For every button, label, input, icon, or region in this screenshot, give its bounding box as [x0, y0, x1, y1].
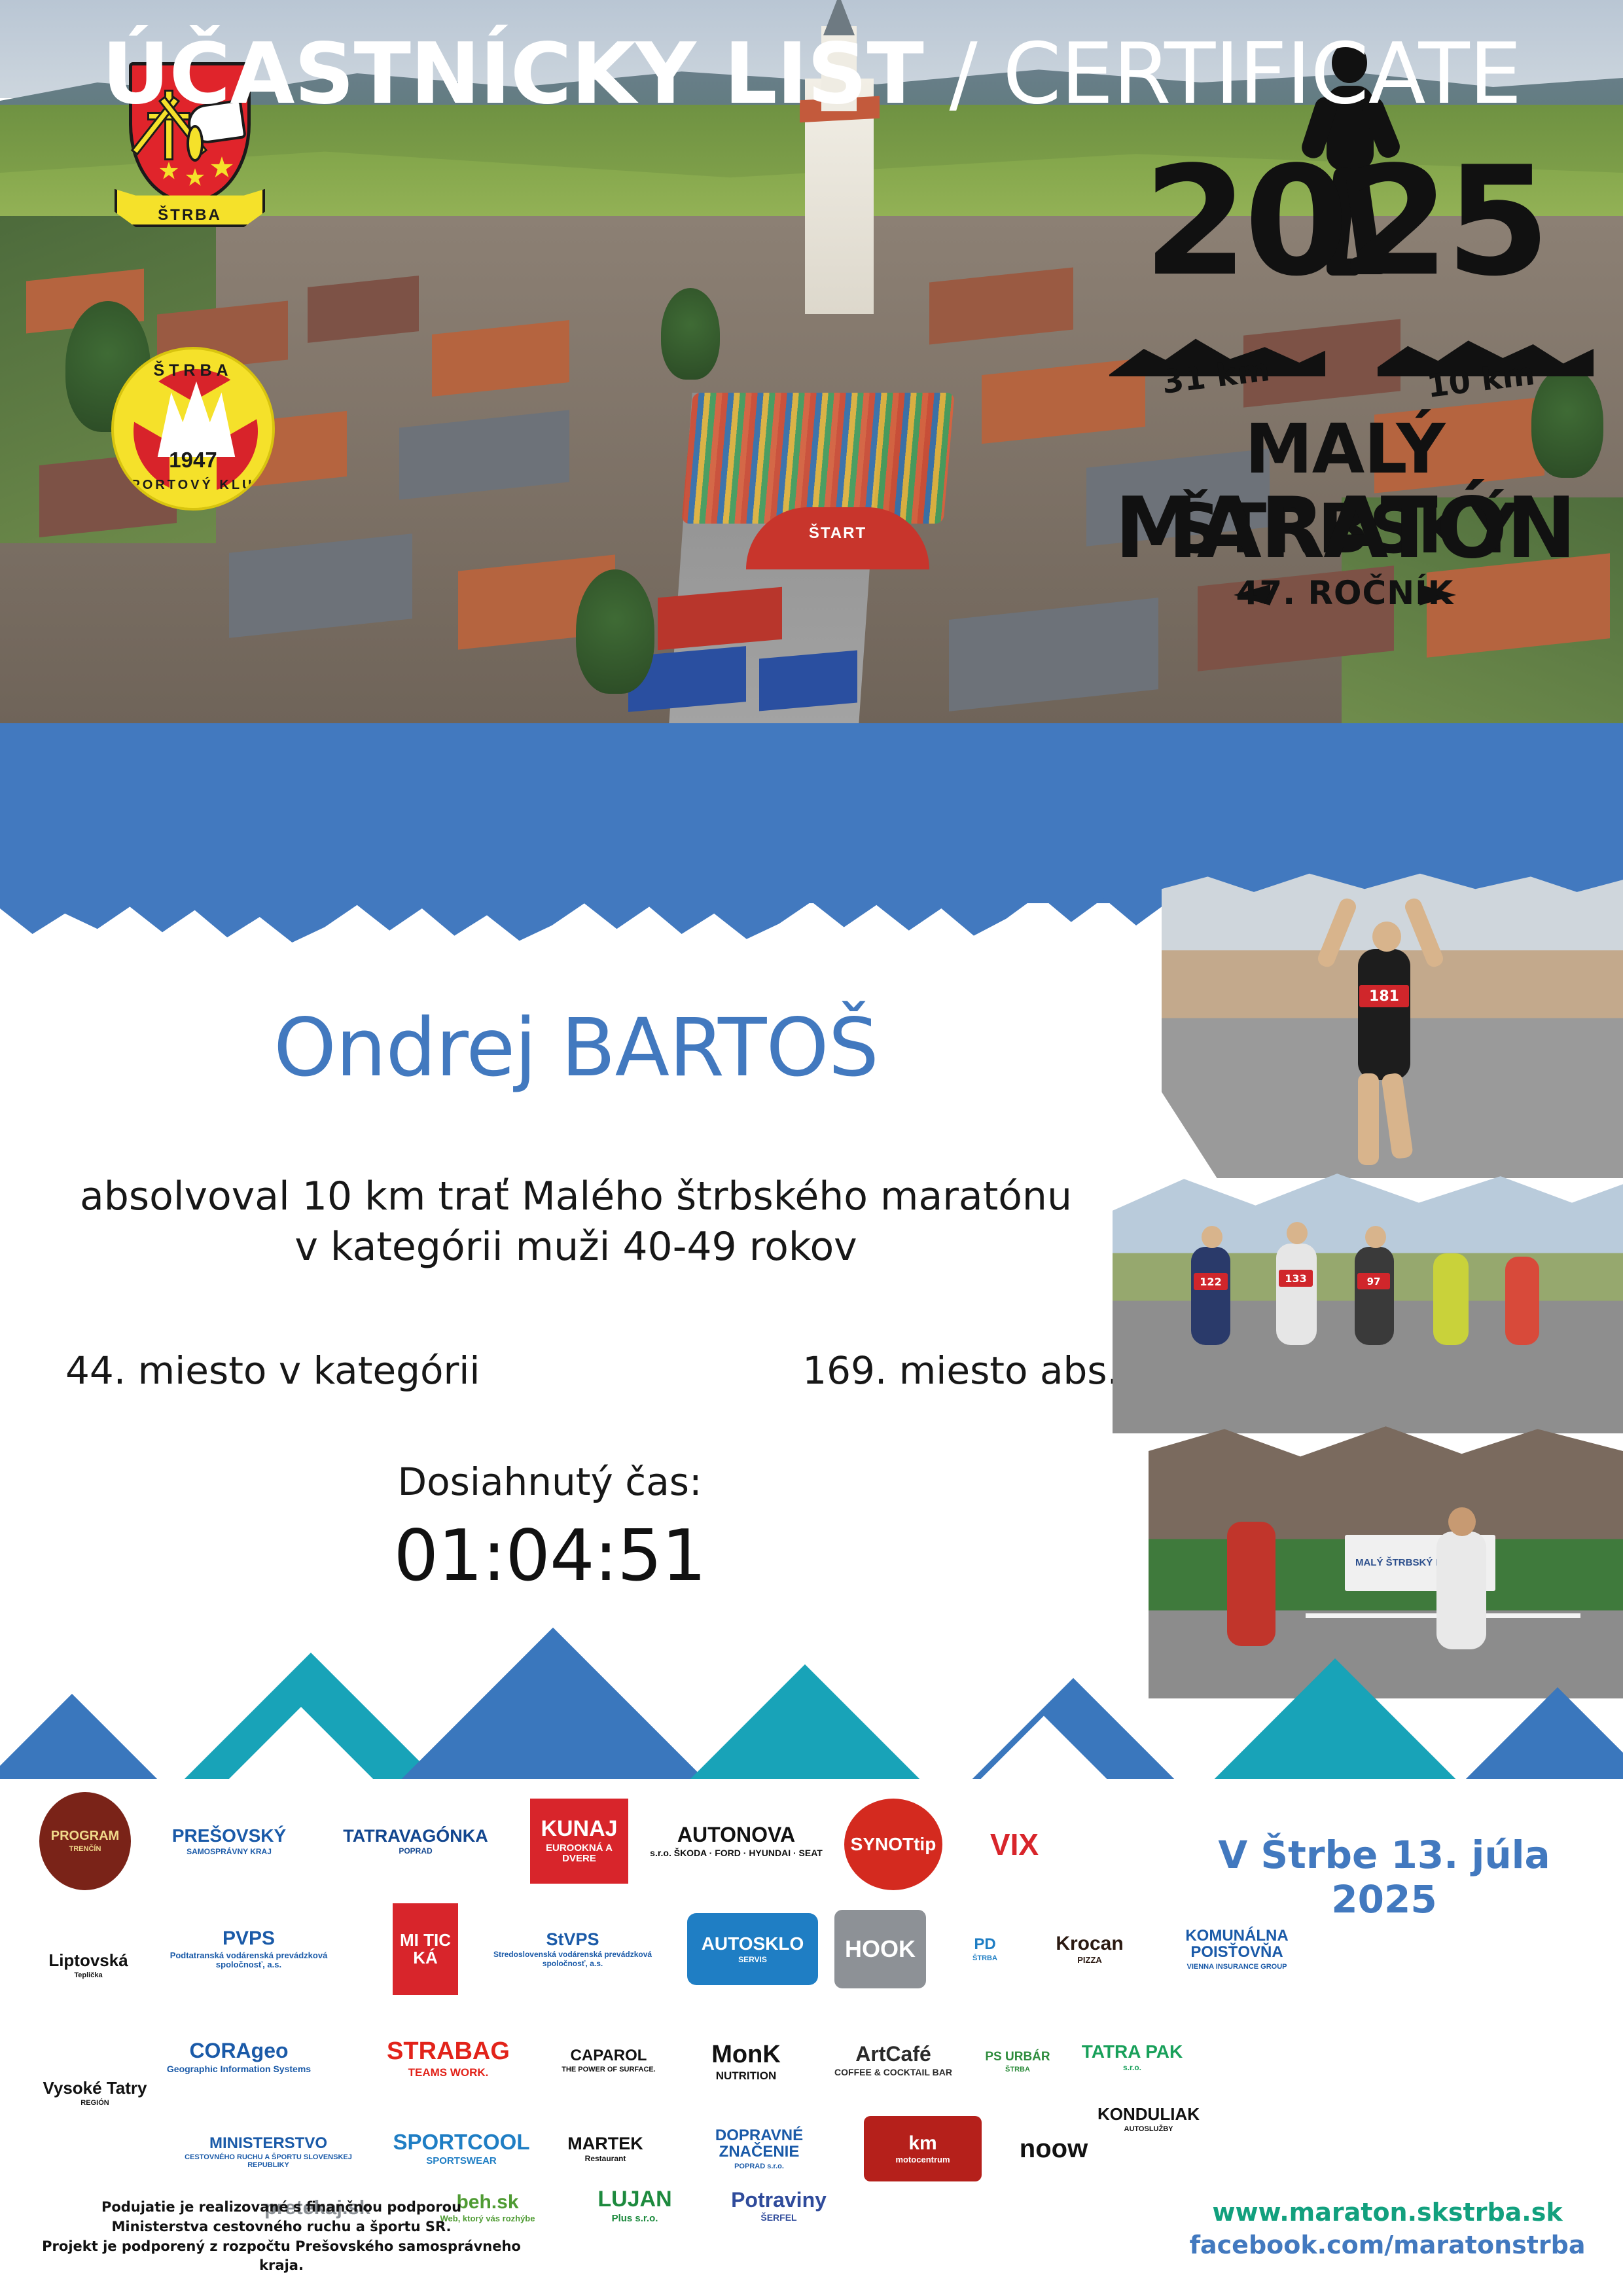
sponsor-name: LUJAN — [597, 2188, 671, 2212]
sponsor-logo-lujan-plus: LUJANPlus s.r.o. — [576, 2175, 694, 2237]
sponsor-name: STRABAG — [387, 2039, 510, 2065]
sponsor-tagline: motocentrum — [895, 2155, 950, 2164]
crest-label: ŠTRBA — [117, 206, 262, 224]
sponsor-logo-ps-urbar-strba: PS URBÁRŠTRBA — [975, 2021, 1060, 2103]
date-and-place: V Štrbe 13. júla 2025 — [1171, 1833, 1597, 1922]
sponsor-logo-dopravne-znacenie: DOPRAVNÉ ZNAČENIEPOPRAD s.r.o. — [674, 2119, 844, 2178]
sponsor-tagline: AUTOSLUŽBY — [1124, 2125, 1173, 2133]
sponsor-tagline: Geographic Information Systems — [167, 2064, 311, 2074]
runner-body — [1358, 949, 1410, 1080]
sponsor-logo-hook: HOOK — [834, 1910, 926, 1988]
sponsor-name: km — [908, 2133, 936, 2154]
sponsor-logo-km-motocentrum: kmmotocentrum — [864, 2116, 982, 2181]
sponsor-name: MI TIC KÁ — [393, 1931, 458, 1967]
photo-collage: 181 122 133 97 MALÝ ŠTRBSKÝ MARATÓN — [1113, 870, 1623, 1715]
sponsor-tagline: POPRAD s.r.o. — [734, 2162, 784, 2170]
runner-body — [1436, 1532, 1486, 1649]
sponsor-name: HOOK — [845, 1937, 916, 1962]
runner-head — [1287, 1222, 1308, 1244]
photo-finish-line: MALÝ ŠTRBSKÝ MARATÓN — [1149, 1424, 1623, 1698]
sponsor-tagline: SAMOSPRÁVNY KRAJ — [187, 1848, 272, 1856]
disclaimer-line-3: Projekt je podporený z rozpočtu Prešovsk… — [39, 2237, 524, 2276]
runner-body — [1276, 1244, 1317, 1345]
sponsor-name: KOMUNÁLNA POISŤOVŇA — [1152, 1928, 1322, 1960]
category-placement: 44. miesto v kategórii — [65, 1348, 480, 1393]
finish-time: 01:04:51 — [39, 1515, 1060, 1597]
sponsor-tagline: Restaurant — [585, 2155, 626, 2163]
sponsor-logo-autosklo-servis: AUTOSKLOSERVIS — [687, 1913, 818, 1985]
photo-female-finisher: 181 — [1162, 870, 1623, 1178]
sponsor-tagline: CESTOVNÉHO RUCHU A ŠPORTU SLOVENSKEJ REP… — [164, 2153, 373, 2169]
sponsor-tagline: TRENČÍN — [69, 1845, 101, 1853]
rooftop — [308, 276, 419, 343]
sponsor-logo-artcafe: ArtCaféCOFFEE & COCKTAIL BAR — [831, 2021, 955, 2100]
sponsor-logo-krocan-pizza: KrocanPIZZA — [1041, 1907, 1139, 1992]
runner-leg — [1358, 1073, 1379, 1165]
sponsor-logo-stvps: StVPSStredoslovenská vodárenská prevádzk… — [478, 1910, 668, 1988]
sponsor-name: Potraviny — [731, 2189, 827, 2212]
sponsor-name: DOPRAVNÉ ZNAČENIE — [674, 2127, 844, 2160]
tree — [661, 288, 720, 380]
certificate-page: ŠTRBA ŠTRBA 1947 ŠPORTOVÝ KLUB — [0, 0, 1623, 2296]
absolute-placement: 169. miesto abs. — [802, 1348, 1119, 1393]
title-slovak: ÚČASTNÍCKY LIST — [102, 26, 923, 123]
website-url[interactable]: www.maraton.skstrba.sk — [1165, 2198, 1610, 2227]
sponsor-name: MINISTERSTVO — [209, 2135, 327, 2151]
sponsor-name: Liptovská — [48, 1952, 128, 1969]
sponsor-name: TATRAVAGÓNKA — [343, 1827, 488, 1845]
tree — [576, 569, 654, 694]
sponsor-tagline: Teplička — [74, 1971, 102, 1979]
disclaimer-line-2: Ministerstva cestovného ruchu a športu S… — [39, 2217, 524, 2237]
sponsor-logo-monk-nutrition: MonKNUTRITION — [681, 2028, 811, 2096]
sponsor-tagline: Plus s.r.o. — [612, 2214, 658, 2225]
certificate-description: absolvoval 10 km trať Malého štrbského m… — [39, 1172, 1113, 1272]
sponsor-tagline: s.r.o. ŠKODA · FORD · HYUNDAI · SEAT — [650, 1848, 823, 1858]
sponsor-name: ArtCafé — [855, 2043, 931, 2066]
time-label: Dosiahnutý čas: — [39, 1460, 1060, 1504]
sponsor-tagline: s.r.o. — [1123, 2064, 1141, 2072]
runner-arm — [1315, 896, 1358, 969]
sponsor-name: MonK — [711, 2042, 781, 2068]
sponsor-name: Vysoké Tatry — [43, 2079, 147, 2097]
bib-number: 181 — [1359, 985, 1409, 1007]
sponsor-logo-synot-tip: SYNOTtip — [844, 1799, 942, 1890]
sponsor-logo-komunalna-poistovna: KOMUNÁLNA POISŤOVŇAVIENNA INSURANCE GROU… — [1152, 1913, 1322, 1985]
sponsor-tagline: Stredoslovenská vodárenská prevádzková s… — [478, 1950, 668, 1967]
sponsor-name: PS URBÁR — [985, 2051, 1050, 2064]
sponsor-name: SPORTCOOL — [393, 2131, 529, 2154]
sponsor-name: AUTONOVA — [677, 1824, 795, 1846]
sponsor-name: AUTOSKLO — [702, 1934, 804, 1953]
sponsor-tagline: PIZZA — [1077, 1956, 1102, 1965]
placement-row: 44. miesto v kategórii 169. miesto abs. — [65, 1348, 1119, 1393]
title-english: CERTIFICATE — [1003, 26, 1521, 123]
sponsor-tagline: NUTRITION — [716, 2070, 777, 2083]
runner-leg — [1381, 1072, 1414, 1159]
facebook-url[interactable]: facebook.com/maratonstrba — [1165, 2231, 1610, 2259]
runner-body — [1355, 1247, 1394, 1345]
sponsor-name: MARTEK — [567, 2134, 643, 2153]
sportovy-klub-strba-emblem: ŠTRBA 1947 ŠPORTOVÝ KLUB — [111, 347, 275, 511]
sponsor-logo-pvps: PVPSPodtatranská vodárenská prevádzková … — [151, 1910, 347, 1988]
sponsor-tagline: SERVIS — [738, 1956, 767, 1964]
sponsor-tagline: ŠTRBA — [972, 1954, 997, 1962]
sponsor-name: TATRA PAK — [1082, 2042, 1183, 2061]
runner-pack — [681, 393, 954, 524]
sponsor-name: PREŠOVSKÝ — [172, 1826, 286, 1845]
sponsor-logo-tatravagonka-poprad: TATRAVAGÓNKAPOPRAD — [327, 1805, 504, 1877]
sponsor-tagline: EUROOKNÁ A DVERE — [530, 1843, 628, 1865]
sponsor-tagline: VIENNA INSURANCE GROUP — [1187, 1963, 1287, 1971]
sponsor-logo-pd-strba: PDŠTRBA — [942, 1907, 1027, 1992]
participant-name: Ondrej BARTOŠ — [39, 1001, 1113, 1094]
sponsor-tagline: SPORTSWEAR — [426, 2156, 497, 2167]
sponsor-tagline: POPRAD — [399, 1847, 432, 1856]
sponsor-tagline: Podtatranská vodárenská prevádzková spol… — [151, 1951, 347, 1970]
distance-marks: 31 km 10 km — [1096, 317, 1594, 396]
runner-body — [1191, 1247, 1230, 1345]
spectator-folk-costume — [1227, 1522, 1275, 1646]
sponsor-tagline: REGIÓN — [80, 2099, 109, 2107]
sponsor-tagline: ŠERFEL — [760, 2213, 796, 2223]
runner-head — [1202, 1226, 1222, 1248]
sponsor-logo-program-trencin: PROGRAMTRENČÍN — [39, 1792, 131, 1890]
sponsor-logo-martek-restaurant: MARTEKRestaurant — [550, 2113, 661, 2185]
tent-blue — [759, 650, 857, 711]
sponsor-logo-potraviny-serfel: PotravinyŠERFEL — [713, 2175, 844, 2237]
sponsor-name: Krocan — [1056, 1933, 1123, 1954]
event-title-line2: MARATÓN — [1077, 480, 1613, 577]
sponsor-name: noow — [1020, 2135, 1088, 2162]
bib-number: 133 — [1279, 1270, 1313, 1287]
sponsor-logo-vix: VIX — [962, 1799, 1067, 1890]
sponsor-name: CAPAROL — [571, 2047, 647, 2064]
sponsor-logo-tatrapak: TATRA PAKs.r.o. — [1073, 2024, 1191, 2090]
sponsor-logo-kunaj: KUNAJEUROOKNÁ A DVERE — [530, 1799, 628, 1884]
sponsor-tagline: ŠTRBA — [1005, 2066, 1030, 2073]
sponsor-name: PVPS — [223, 1928, 275, 1949]
tent-red — [658, 587, 782, 651]
sponsor-tagline: TEAMS WORK. — [408, 2067, 489, 2079]
emblem-year: 1947 — [114, 448, 272, 473]
sponsor-logo-caparol: CAPAROLTHE POWER OF SURFACE. — [550, 2021, 668, 2100]
sponsor-name: KONDULIAK — [1097, 2106, 1200, 2123]
sponsor-tagline: COFFEE & COCKTAIL BAR — [834, 2068, 952, 2077]
funding-disclaimer: Podujatie je realizované s finančnou pod… — [39, 2198, 524, 2276]
description-line-2: v kategórii muži 40-49 rokov — [39, 1222, 1113, 1272]
sponsor-logo-presovsky-kraj: PREŠOVSKÝSAMOSPRÁVNY KRAJ — [144, 1805, 314, 1877]
description-line-1: absolvoval 10 km trať Malého štrbského m… — [39, 1172, 1113, 1222]
photo-runner-group: 122 133 97 — [1113, 1168, 1623, 1433]
emblem-top-text: ŠTRBA — [114, 361, 272, 380]
event-edition: 47. ROČNÍK — [1077, 574, 1613, 612]
sponsor-logo-ministerstvo-sr: MINISTERSTVOCESTOVNÉHO RUCHU A ŠPORTU SL… — [164, 2113, 373, 2191]
title-separator: / — [923, 26, 1003, 123]
sponsor-logo-autonova: AUTONOVAs.r.o. ŠKODA · FORD · HYUNDAI · … — [645, 1799, 828, 1884]
bib-number: 122 — [1194, 1273, 1228, 1290]
sponsor-logo-noow: noow — [1001, 2119, 1106, 2178]
sponsor-logo-miticka: MI TIC KÁ — [393, 1903, 458, 1995]
sponsor-logo-strabag: STRABAGTEAMS WORK. — [373, 2024, 524, 2093]
sponsor-logo-liptovska-teplicka: LiptovskáTeplička — [39, 1907, 137, 2024]
sponsor-name: PROGRAM — [51, 1829, 119, 1843]
sponsor-logo-corageo: CORAgeoGeographic Information Systems — [151, 2021, 327, 2093]
certificate-title: ÚČASTNÍCKY LIST / CERTIFICATE — [0, 33, 1623, 117]
emblem-bottom-text: ŠPORTOVÝ KLUB — [114, 478, 272, 493]
runner-head — [1372, 922, 1401, 952]
sponsor-name: VIX — [990, 1829, 1039, 1860]
event-year: 2025 — [1077, 147, 1613, 298]
bib-number: 97 — [1357, 1273, 1390, 1289]
sponsor-name: SYNOTtip — [851, 1835, 936, 1854]
sponsor-name: StVPS — [546, 1930, 599, 1948]
sponsor-logo-vysoke-tatry: Vysoké TatryREGIÓN — [39, 2041, 151, 2145]
sponsor-logo-sportcool: SPORTCOOLSPORTSWEAR — [386, 2113, 537, 2185]
sponsor-name: CORAgeo — [189, 2040, 288, 2062]
runner-head — [1365, 1226, 1386, 1248]
sponsor-name: KUNAJ — [541, 1818, 617, 1841]
sponsor-name: PD — [974, 1936, 995, 1952]
sponsor-tagline: THE POWER OF SURFACE. — [562, 2066, 656, 2073]
runner-body — [1433, 1253, 1469, 1345]
runner-arm — [1402, 896, 1445, 969]
disclaimer-line-1: Podujatie je realizované s finančnou pod… — [39, 2198, 524, 2217]
runner-head — [1448, 1507, 1476, 1536]
cuff — [187, 125, 204, 162]
runner-body — [1505, 1257, 1539, 1345]
